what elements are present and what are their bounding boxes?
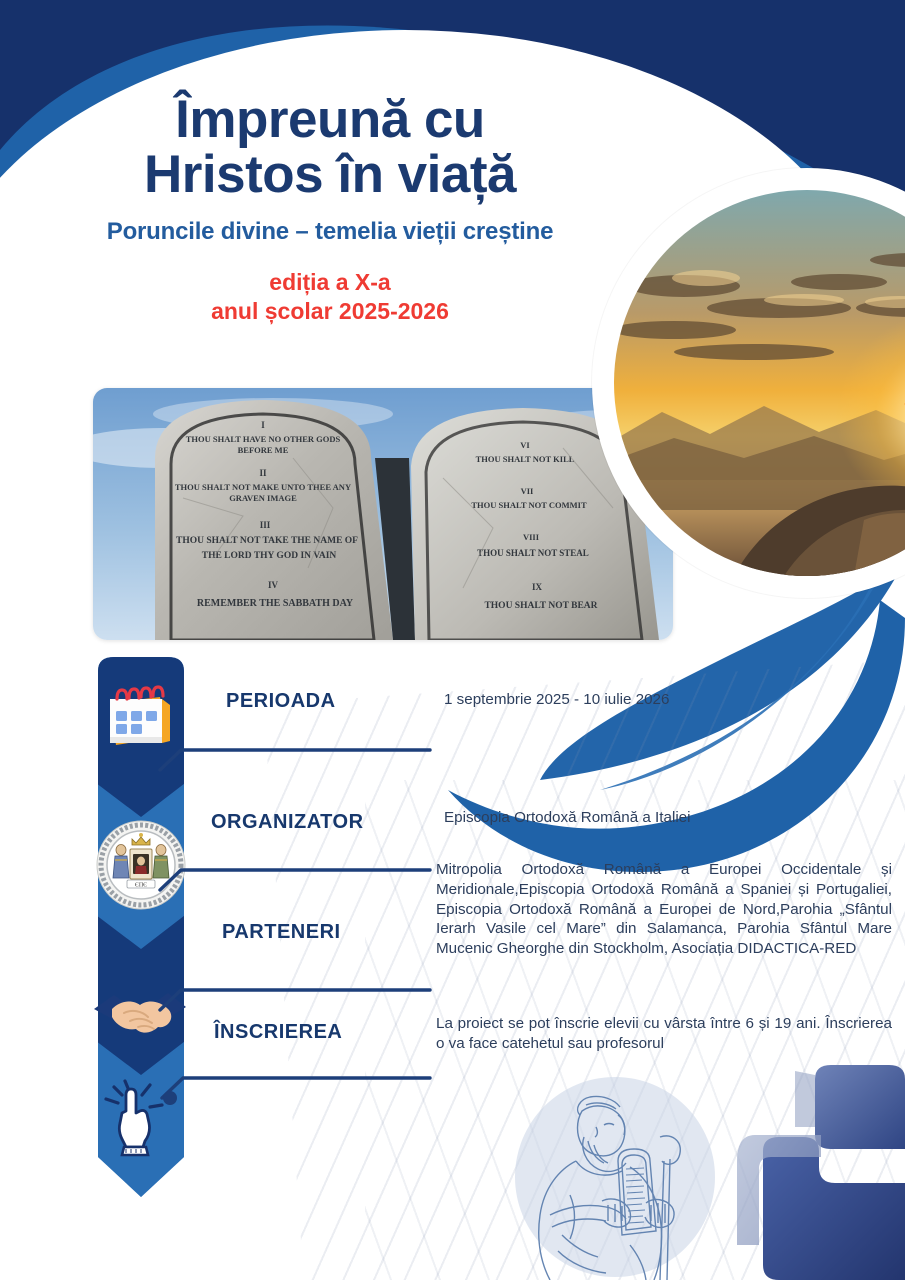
row-text-organizator: Episcopia Ortodoxă Română a Italiei bbox=[444, 808, 874, 828]
row-text-inscrierea: La proiect se pot înscrie elevii cu vârs… bbox=[436, 1014, 892, 1054]
row-label-perioada: PERIOADA bbox=[226, 690, 336, 713]
row-label-organizator: ORGANIZATOR bbox=[211, 811, 364, 834]
poster-canvas: Împreună cu Hristos în viață Poruncile d… bbox=[0, 0, 905, 1280]
row-label-inscrierea: ÎNSCRIEREA bbox=[214, 1021, 342, 1044]
row-text-parteneri: Mitropolia Ortodoxă Română a Europei Occ… bbox=[436, 860, 892, 959]
info-rows: PERIOADA 1 septembrie 2025 - 10 iulie 20… bbox=[0, 0, 905, 1280]
row-label-parteneri: PARTENERI bbox=[222, 921, 341, 944]
row-text-perioada: 1 septembrie 2025 - 10 iulie 2026 bbox=[444, 690, 864, 710]
